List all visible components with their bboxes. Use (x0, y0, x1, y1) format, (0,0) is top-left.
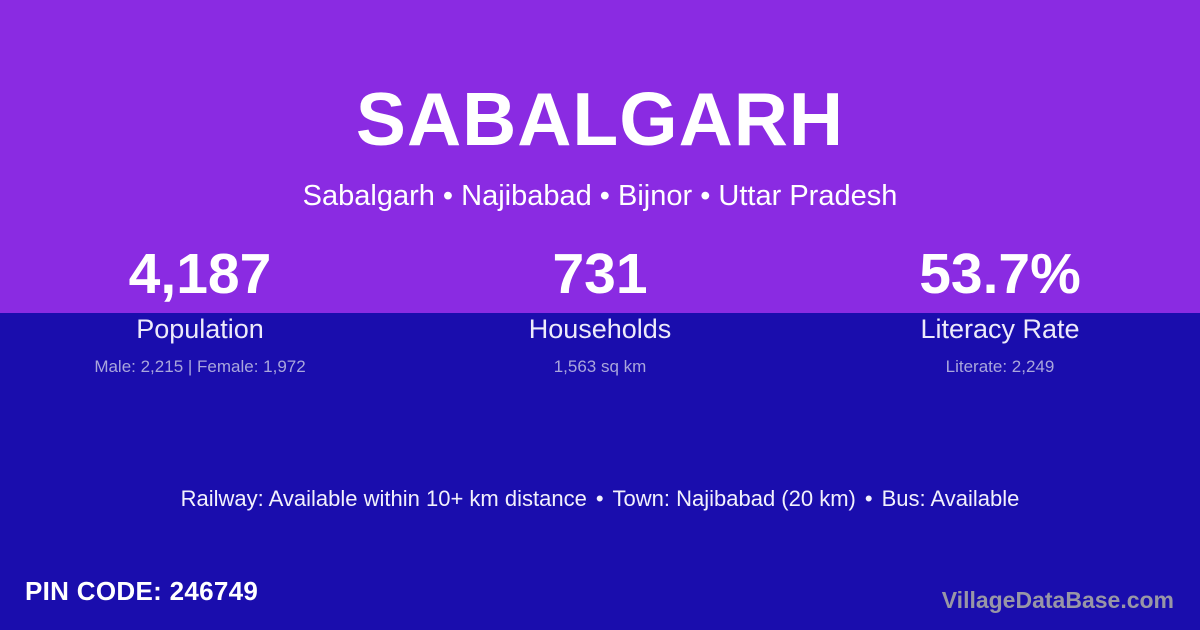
amenities-info-line: Railway: Available within 10+ km distanc… (0, 486, 1200, 512)
info-separator-1: • (587, 486, 613, 512)
page-title: SABALGARH (0, 0, 1200, 157)
stat-households: 731 Households 1,563 sq km (400, 243, 800, 377)
info-railway: Railway: Available within 10+ km distanc… (181, 486, 587, 511)
stat-label-households: Households (400, 315, 800, 345)
stat-literacy-rate: 53.7% Literacy Rate Literate: 2,249 (800, 243, 1200, 377)
footer: PIN CODE: 246749 VillageDataBase.com (0, 572, 1200, 630)
breadcrumb: Sabalgarh • Najibabad • Bijnor • Uttar P… (0, 157, 1200, 213)
info-bus: Bus: Available (882, 486, 1020, 511)
stat-value-literacy-rate: 53.7% (800, 243, 1200, 306)
info-town: Town: Najibabad (20 km) (613, 486, 856, 511)
stat-value-population: 4,187 (0, 243, 400, 306)
village-info-card: SABALGARH Sabalgarh • Najibabad • Bijnor… (0, 0, 1200, 630)
stat-sub-population: Male: 2,215 | Female: 1,972 (0, 358, 400, 377)
stats-row: 4,187 Population Male: 2,215 | Female: 1… (0, 243, 1200, 377)
stat-sub-households: 1,563 sq km (400, 358, 800, 377)
stat-population: 4,187 Population Male: 2,215 | Female: 1… (0, 243, 400, 377)
stat-value-households: 731 (400, 243, 800, 306)
pin-code: PIN CODE: 246749 (25, 576, 258, 607)
header: SABALGARH Sabalgarh • Najibabad • Bijnor… (0, 0, 1200, 213)
info-separator-2: • (856, 486, 882, 512)
stat-label-population: Population (0, 315, 400, 345)
stat-label-literacy-rate: Literacy Rate (800, 315, 1200, 345)
site-watermark: VillageDataBase.com (942, 587, 1174, 614)
stat-sub-literacy-rate: Literate: 2,249 (800, 358, 1200, 377)
